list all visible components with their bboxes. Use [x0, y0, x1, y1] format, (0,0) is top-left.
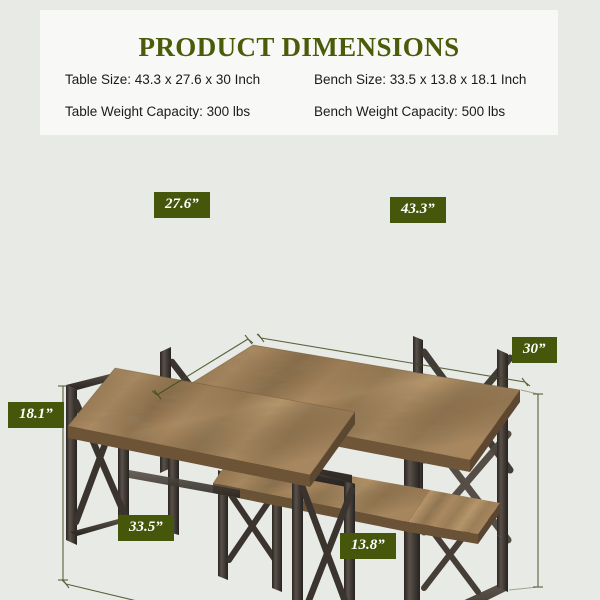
product-illustration [0, 140, 600, 600]
page-title: PRODUCT DIMENSIONS [40, 32, 558, 63]
dimline-27 [150, 204, 252, 318]
dimension-badge-table-width: 43.3” [390, 197, 446, 223]
table-capacity-spec: Table Weight Capacity: 300 lbs [40, 104, 302, 119]
spec-row-size: Table Size: 43.3 x 27.6 x 30 Inch Bench … [40, 72, 558, 87]
dimension-badge-table-height: 30” [512, 337, 557, 363]
dimension-badge-table-depth: 27.6” [154, 192, 210, 218]
dimension-badge-bench-height: 18.1” [8, 402, 64, 428]
bench-capacity-spec: Bench Weight Capacity: 500 lbs [302, 104, 558, 119]
dimension-badge-bench-length: 33.5” [118, 515, 174, 541]
infographic-page: PRODUCT DIMENSIONS Table Size: 43.3 x 27… [0, 0, 600, 600]
dimline-bench-length [66, 584, 300, 600]
header-card: PRODUCT DIMENSIONS Table Size: 43.3 x 27… [40, 10, 558, 135]
table-size-spec: Table Size: 43.3 x 27.6 x 30 Inch [40, 72, 302, 87]
dimension-badge-bench-depth: 13.8” [340, 533, 396, 559]
dining-table [160, 336, 520, 600]
spec-row-capacity: Table Weight Capacity: 300 lbs Bench Wei… [40, 104, 558, 119]
bench-size-spec: Bench Size: 33.5 x 13.8 x 18.1 Inch [302, 72, 558, 87]
